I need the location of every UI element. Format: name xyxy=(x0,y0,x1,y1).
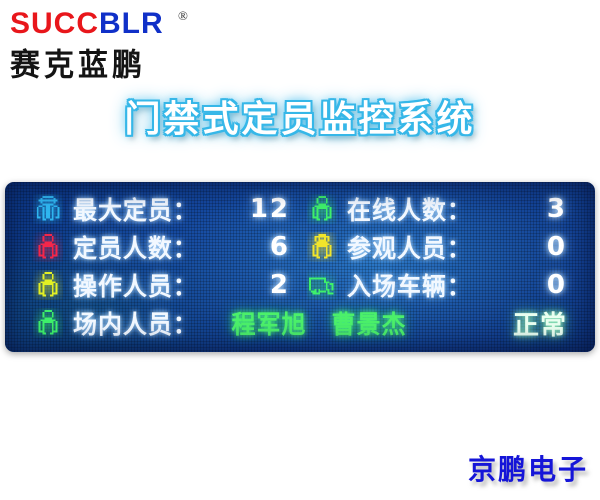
led-row: 定员人数： 6 xyxy=(5,228,595,266)
logo-chinese-name: 赛克蓝鹏 xyxy=(10,39,146,85)
led-display-panel: 最大定员： 12 xyxy=(5,182,595,352)
led-row-onsite: 场内人员： 程军旭 曹景杰 正常 xyxy=(5,304,595,342)
company-logo: SUCCBLR ® 赛克蓝鹏 xyxy=(8,6,228,76)
led-onsite-name-list: 程军旭 曹景杰 xyxy=(230,304,408,342)
logo-wordmark: SUCCBLR xyxy=(10,8,164,40)
led-label-online-count: 在线人数： xyxy=(347,190,527,228)
led-value-online-count: 3 xyxy=(505,190,567,228)
registered-trademark-icon: ® xyxy=(178,8,188,24)
led-value-max-capacity: 12 xyxy=(230,190,290,228)
led-value-visitor-count: 0 xyxy=(505,228,567,266)
page-title: 门禁式定员监控系统 xyxy=(0,90,600,142)
led-row: 操作人员： 2 xyxy=(5,266,595,304)
led-label-max-capacity: 最大定员： xyxy=(73,190,248,228)
led-label-operator-count: 操作人员： xyxy=(73,266,248,304)
logo-wordmark-part1: SUCC xyxy=(10,7,99,40)
person-icon-onsite xyxy=(27,304,69,342)
led-value-quota-count: 6 xyxy=(230,228,290,266)
led-onsite-name: 曹景杰 xyxy=(332,305,407,341)
led-label-visitor-count: 参观人员： xyxy=(347,228,527,266)
person-helmet-icon xyxy=(301,228,343,266)
led-value-vehicle-count: 0 xyxy=(505,266,567,304)
person-cap-icon xyxy=(27,190,69,228)
status-badge: 正常 xyxy=(505,304,567,342)
led-label-onsite-personnel: 场内人员： xyxy=(73,304,248,342)
logo-wordmark-part2: BLR xyxy=(99,7,164,40)
led-label-vehicle-count: 入场车辆： xyxy=(347,266,527,304)
led-label-quota-count: 定员人数： xyxy=(73,228,248,266)
led-rows-container: 最大定员： 12 xyxy=(5,190,595,342)
person-icon-online xyxy=(301,190,343,228)
person-icon-quota xyxy=(27,228,69,266)
footer-company-name: 京鹏电子 xyxy=(468,448,588,488)
led-onsite-name: 程军旭 xyxy=(232,305,307,341)
led-row: 最大定员： 12 xyxy=(5,190,595,228)
truck-icon xyxy=(301,266,343,304)
led-value-operator-count: 2 xyxy=(230,266,290,304)
person-icon-operator xyxy=(27,266,69,304)
